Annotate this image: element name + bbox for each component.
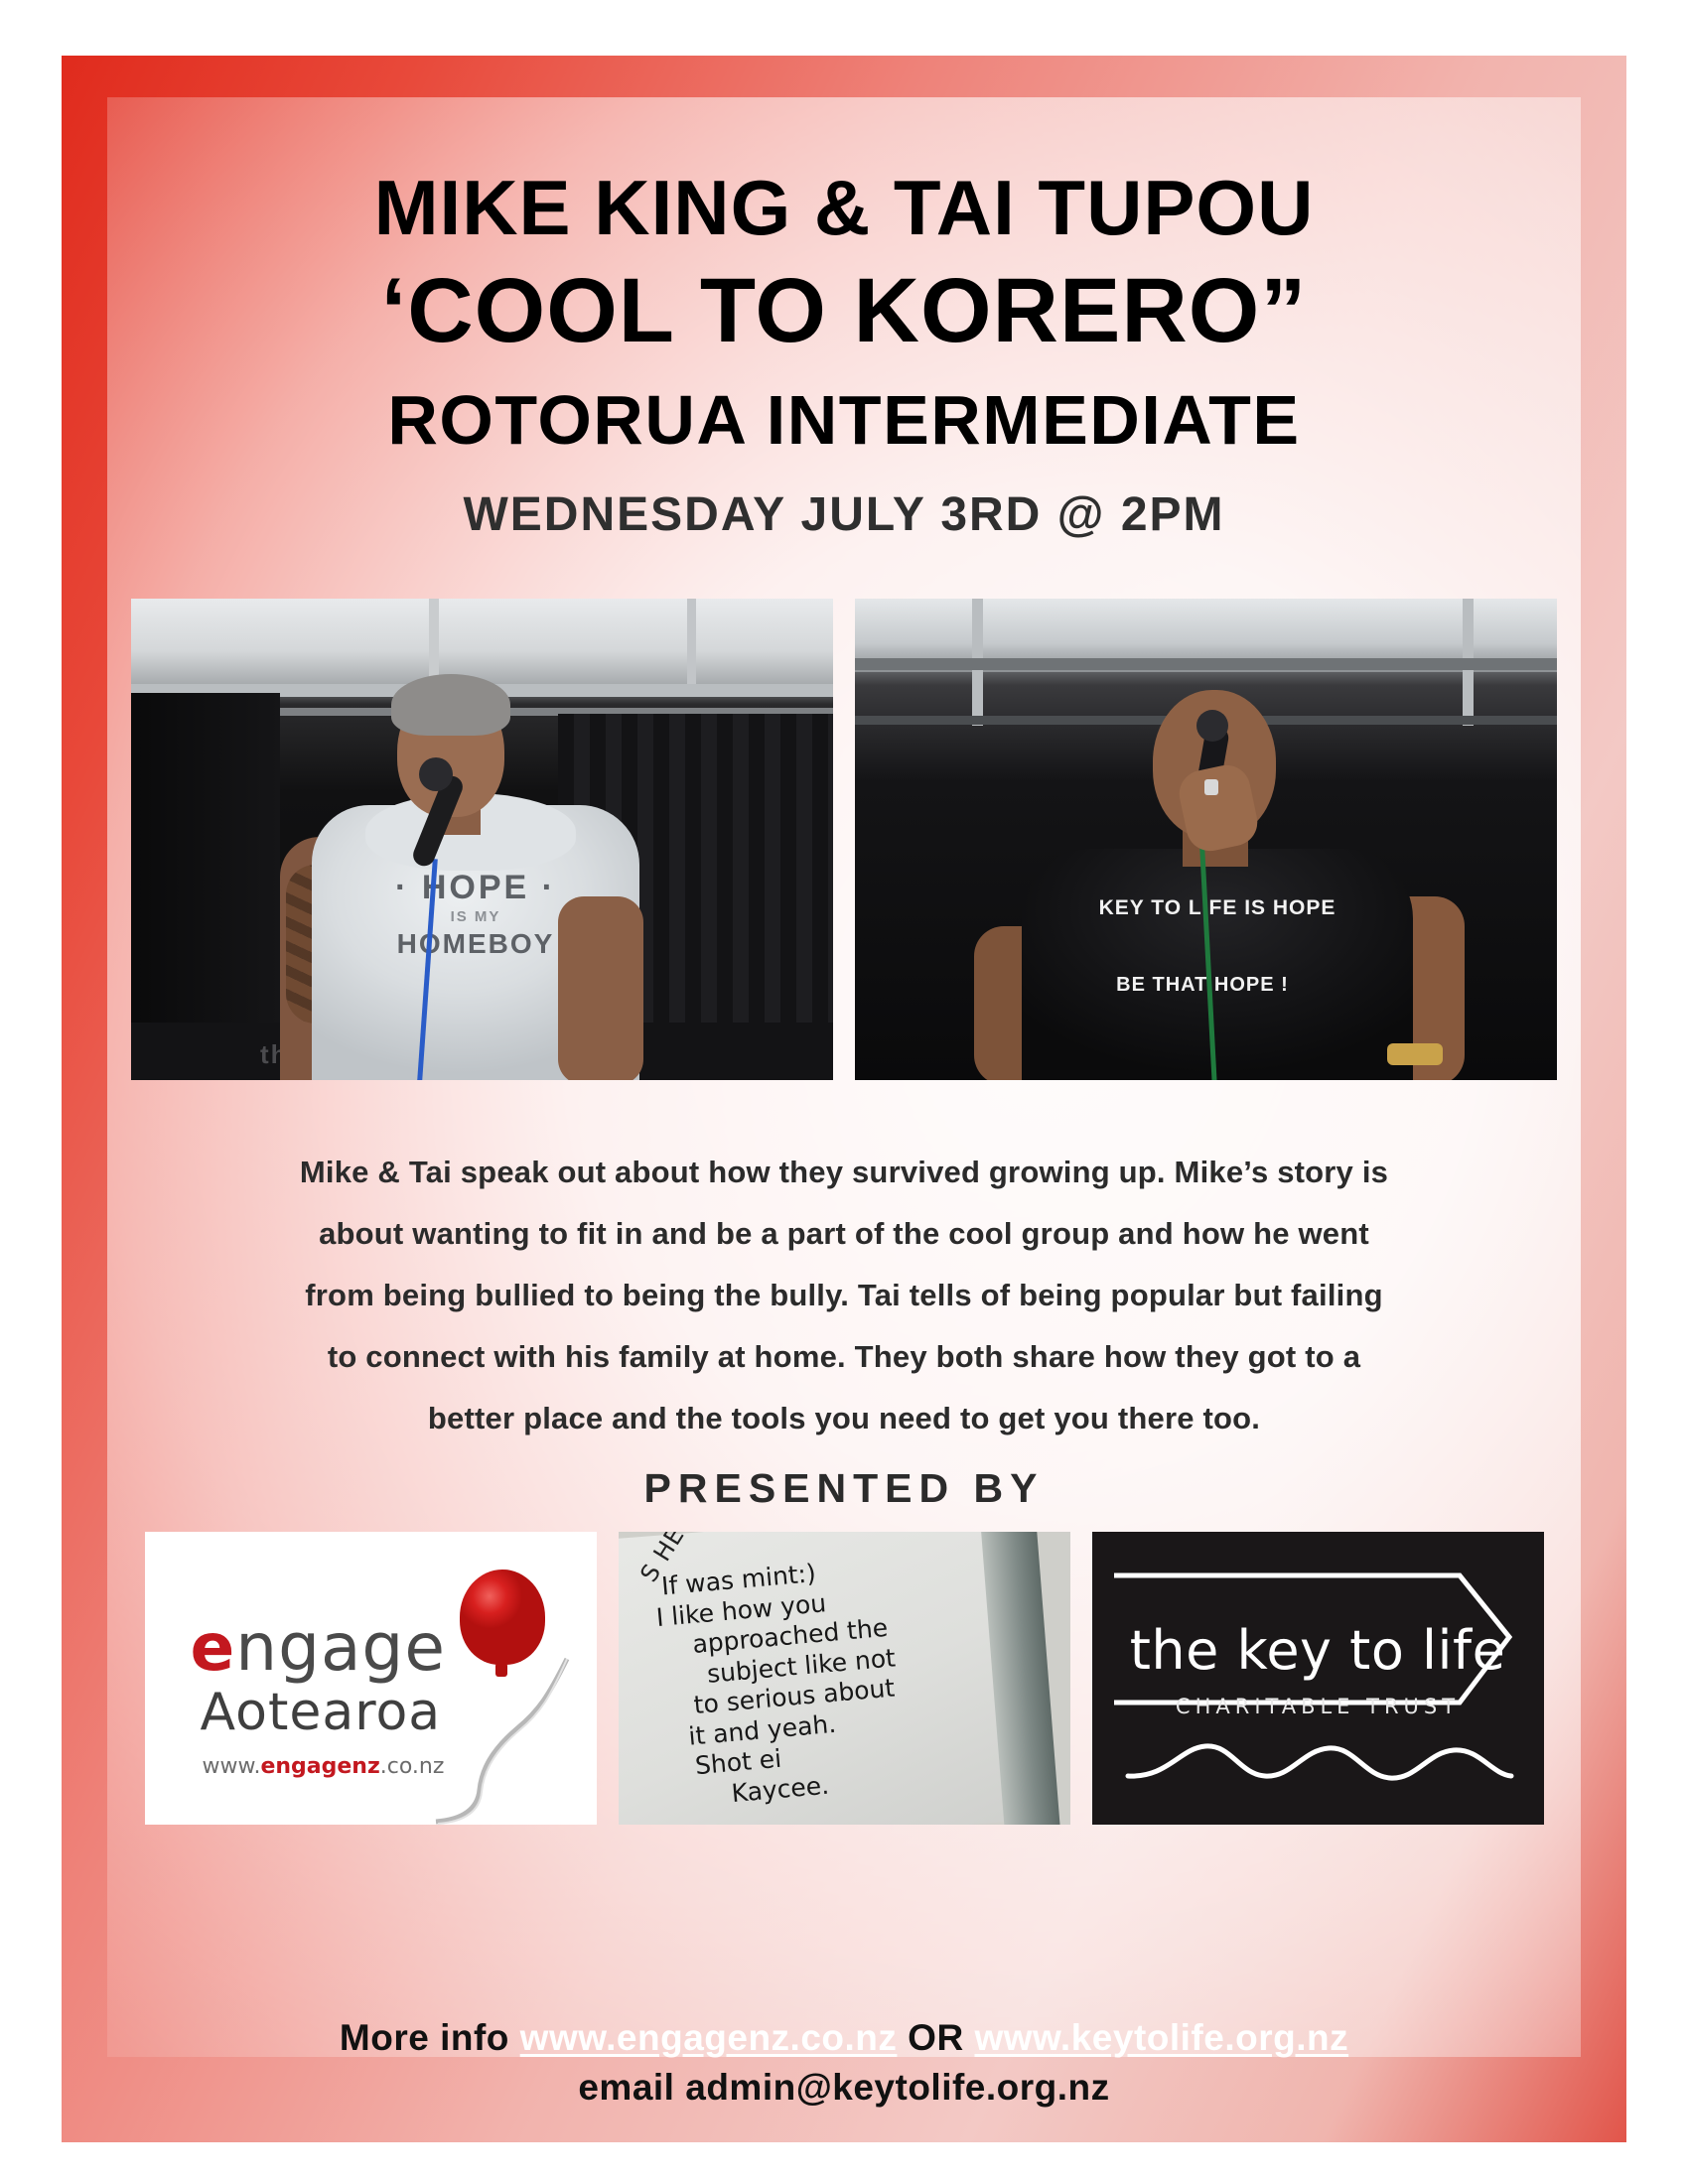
- tshirt-text-line1: KEY TO LIFE IS HOPE: [1054, 896, 1381, 920]
- note-handwriting: If was mint:) I like how you approached …: [642, 1543, 1020, 1815]
- description-line: to connect with his family at home. They…: [164, 1326, 1524, 1388]
- key-outline-icon: [1110, 1554, 1527, 1817]
- logo-key-to-life[interactable]: the key to life CHARITABLE TRUST: [1092, 1532, 1544, 1825]
- engage-red-e: e: [191, 1609, 236, 1686]
- headline-show-title: ‘COOL TO KORERO”: [131, 263, 1557, 360]
- photo-row: th · HOPE · IS MY HOMEBOY: [131, 599, 1557, 1080]
- logo-student-note-photo: S HETH If was mint:) I like how you appr…: [619, 1532, 1070, 1825]
- ktl-subtitle: CHARITABLE TRUST: [1092, 1695, 1544, 1718]
- hoodie-text-homeboy: HOMEBOY: [365, 928, 586, 960]
- sponsor-logo-row: engage Aotearoa www.engagenz.co.nz S HET…: [131, 1532, 1557, 1825]
- wristwatch: [1387, 1043, 1443, 1065]
- engage-url-brand: engagenz: [260, 1754, 379, 1779]
- description-line: Mike & Tai speak out about how they surv…: [164, 1142, 1524, 1203]
- photo-tai-tupou: KEY TO LIFE IS HOPE BE THAT HOPE !: [855, 599, 1557, 1080]
- balloon-string: [418, 1651, 597, 1825]
- engage-wordmark: engage: [191, 1609, 446, 1686]
- photo-mike-king: th · HOPE · IS MY HOMEBOY: [131, 599, 833, 1080]
- poster-frame: MIKE KING & TAI TUPOU ‘COOL TO KORERO” R…: [62, 56, 1626, 2142]
- engage-url: www.engagenz.co.nz: [203, 1754, 445, 1779]
- description-paragraph: Mike & Tai speak out about how they surv…: [164, 1142, 1524, 1449]
- event-datetime: WEDNESDAY JULY 3RD @ 2PM: [131, 490, 1557, 541]
- description-line: from being bullied to being the bully. T…: [164, 1265, 1524, 1326]
- engage-subtitle: Aotearoa: [201, 1683, 442, 1742]
- venue-name: ROTORUA INTERMEDIATE: [131, 383, 1557, 457]
- ring: [1204, 779, 1218, 795]
- headline-presenters: MIKE KING & TAI TUPOU: [131, 167, 1557, 249]
- footer-links-line: More info www.engagenz.co.nz OR www.keyt…: [62, 2013, 1626, 2063]
- description-line: better place and the tools you need to g…: [164, 1388, 1524, 1449]
- link-engagenz[interactable]: www.engagenz.co.nz: [520, 2017, 898, 2058]
- poster-page: MIKE KING & TAI TUPOU ‘COOL TO KORERO” R…: [0, 0, 1688, 2184]
- presented-by-label: PRESENTED BY: [131, 1465, 1557, 1512]
- engage-rest: ngage: [235, 1609, 446, 1686]
- hoodie-text-ismy: IS MY: [365, 908, 586, 925]
- or-label: OR: [897, 2017, 974, 2058]
- description-line: about wanting to fit in and be a part of…: [164, 1203, 1524, 1265]
- engage-url-prefix: www.: [203, 1754, 261, 1779]
- link-keytolife[interactable]: www.keytolife.org.nz: [974, 2017, 1348, 2058]
- more-info-label: More info: [340, 2017, 520, 2058]
- poster-content: MIKE KING & TAI TUPOU ‘COOL TO KORERO” R…: [62, 56, 1626, 2142]
- hoodie-text-hope: · HOPE ·: [365, 869, 586, 907]
- poster-footer: More info www.engagenz.co.nz OR www.keyt…: [62, 2013, 1626, 2113]
- ktl-title: the key to life: [1092, 1619, 1544, 1682]
- footer-email-line[interactable]: email admin@keytolife.org.nz: [62, 2063, 1626, 2113]
- tshirt-text-line2: BE THAT HOPE !: [1054, 974, 1351, 997]
- logo-engage-aotearoa[interactable]: engage Aotearoa www.engagenz.co.nz: [145, 1532, 597, 1825]
